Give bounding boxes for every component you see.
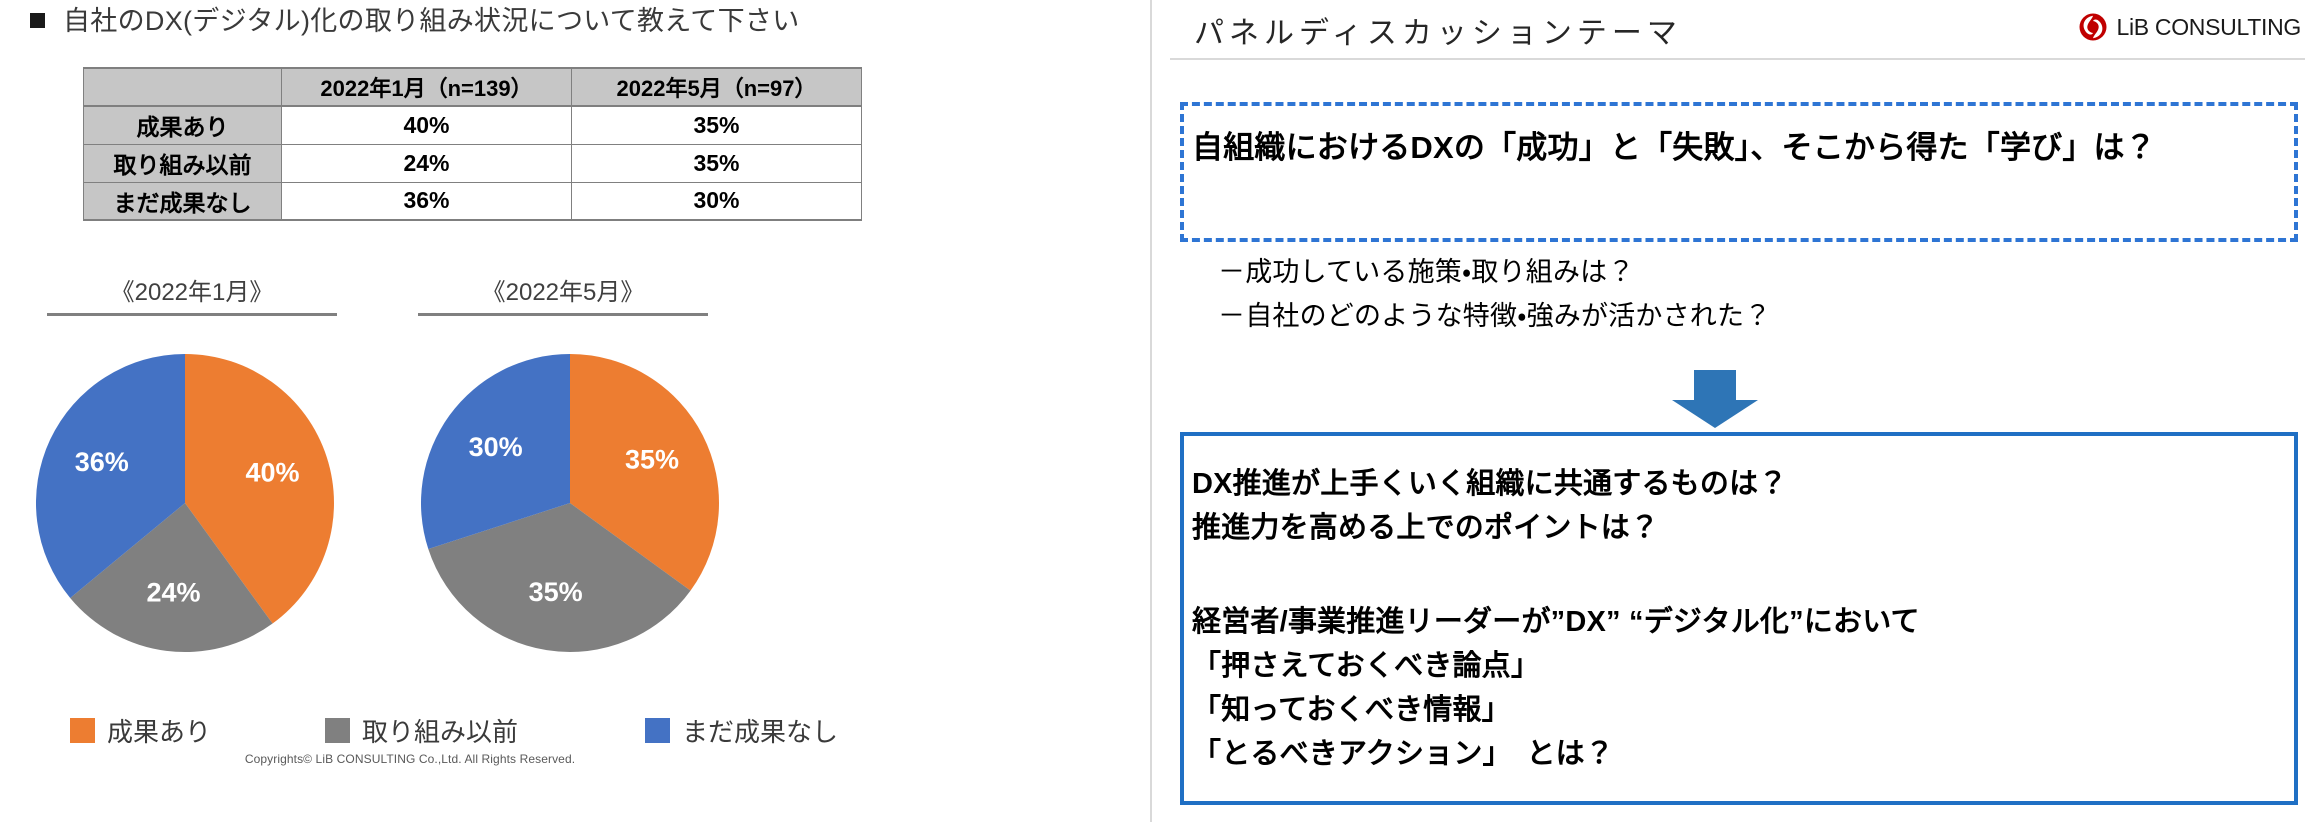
pie-legend: 成果あり 取り組み以前 まだ成果なし xyxy=(30,712,950,749)
down-arrow-icon xyxy=(1672,370,1758,428)
solid-box-line: 「とるべきアクション」 とは？ xyxy=(1192,732,1920,776)
table-corner-cell xyxy=(84,68,282,106)
left-panel-survey-results: 自社のDX(デジタル)化の取り組み状況について教えて下さい 2022年1月（n=… xyxy=(0,0,1150,822)
solid-box-line: 経営者/事業推進リーダーが”DX” “デジタル化”において xyxy=(1192,600,1920,644)
pie-chart-may-svg: 35%35%30% xyxy=(419,352,721,654)
pie-slice-label: 35% xyxy=(625,444,679,474)
pie-title-january: 《2022年1月》 xyxy=(47,272,337,316)
pie-chart-january-svg: 40%24%36% xyxy=(34,352,336,654)
table-header: 2022年1月（n=139） 2022年5月（n=97） xyxy=(84,68,862,106)
table-row: まだ成果なし 36% 30% xyxy=(84,182,862,220)
table-cell-may: 35% xyxy=(572,144,862,182)
right-header: パネルディスカッションテーマ LiB CONSULTING xyxy=(1152,0,2321,62)
dashed-box-headline: 自組織におけるDXの「成功」と「失敗」、そこから得た「学び」は？ xyxy=(1192,122,2156,167)
table-cell-may: 35% xyxy=(572,106,862,144)
pie-chart-may: 35%35%30% xyxy=(419,352,721,654)
left-heading: 自社のDX(デジタル)化の取り組み状況について教えて下さい xyxy=(30,4,800,38)
filled-square-bullet-icon xyxy=(30,13,45,28)
legend-swatch-icon xyxy=(70,718,95,743)
legend-swatch-icon xyxy=(325,718,350,743)
legend-item: まだ成果なし xyxy=(645,712,945,749)
solid-box-line: 「押さえておくべき論点」 xyxy=(1192,644,1920,688)
lib-swirl-logo-icon xyxy=(2078,12,2108,42)
left-heading-text: 自社のDX(デジタル)化の取り組み状況について教えて下さい xyxy=(63,4,800,38)
pie-slice-label: 40% xyxy=(245,458,299,488)
table-col-header-may: 2022年5月（n=97） xyxy=(572,68,862,106)
table-body: 成果あり 40% 35% 取り組み以前 24% 35% まだ成果なし 36% 3… xyxy=(84,106,862,220)
legend-item: 取り組み以前 xyxy=(325,712,645,749)
pie-slice-label: 30% xyxy=(469,432,523,462)
header-divider xyxy=(1170,58,2305,60)
pie-slice-label: 35% xyxy=(529,577,583,607)
table-cell-may: 30% xyxy=(572,182,862,220)
table-row: 成果あり 40% 35% xyxy=(84,106,862,144)
pie-slice-label: 36% xyxy=(75,447,129,477)
table-col-header-jan: 2022年1月（n=139） xyxy=(282,68,572,106)
brand-lockup: LiB CONSULTING xyxy=(2078,12,2301,42)
brand-name: LiB CONSULTING xyxy=(2116,14,2301,41)
table-cell-jan: 24% xyxy=(282,144,572,182)
dashed-box-bullets: －成功している施策・取り組みは？ －自社のどのような特徴・強みが活かされた？ xyxy=(1218,250,1771,338)
pie-chart-january: 40%24%36% xyxy=(34,352,336,654)
solid-box-line: DX推進が上手くいく組織に共通するものは？ xyxy=(1192,462,1788,506)
pie-title-may: 《2022年5月》 xyxy=(418,272,708,316)
table-row-label: 成果あり xyxy=(84,106,282,144)
copyright-notice: Copyrights© LiB CONSULTING Co.,Ltd. All … xyxy=(120,752,700,766)
right-panel-title: パネルディスカッションテーマ xyxy=(1194,8,1682,52)
survey-results-table: 2022年1月（n=139） 2022年5月（n=97） 成果あり 40% 35… xyxy=(83,67,862,221)
legend-item: 成果あり xyxy=(30,712,325,749)
dashed-bullet-line: －成功している施策・取り組みは？ xyxy=(1218,250,1771,294)
pie-slices-may xyxy=(421,354,719,652)
legend-swatch-icon xyxy=(645,718,670,743)
dashed-bullet-line: －自社のどのような特徴・強みが活かされた？ xyxy=(1218,294,1771,338)
slide-canvas: 自社のDX(デジタル)化の取り組み状況について教えて下さい 2022年1月（n=… xyxy=(0,0,2321,822)
legend-label: 成果あり xyxy=(107,712,211,749)
right-panel-discussion-theme: パネルディスカッションテーマ LiB CONSULTING 自組織におけるDXの… xyxy=(1150,0,2321,822)
table-cell-jan: 40% xyxy=(282,106,572,144)
solid-box-line: 推進力を高める上でのポイントは？ xyxy=(1192,506,1788,550)
pie-slice-label: 24% xyxy=(146,577,200,607)
table-row: 取り組み以前 24% 35% xyxy=(84,144,862,182)
solid-box-block-2: 経営者/事業推進リーダーが”DX” “デジタル化”において 「押さえておくべき論… xyxy=(1192,600,1920,776)
table-row-label: まだ成果なし xyxy=(84,182,282,220)
solid-box-line: 「知っておくべき情報」 xyxy=(1192,688,1920,732)
legend-label: まだ成果なし xyxy=(682,712,838,749)
table-header-row: 2022年1月（n=139） 2022年5月（n=97） xyxy=(84,68,862,106)
table-cell-jan: 36% xyxy=(282,182,572,220)
legend-label: 取り組み以前 xyxy=(362,712,518,749)
solid-box-block-1: DX推進が上手くいく組織に共通するものは？ 推進力を高める上でのポイントは？ xyxy=(1192,462,1788,550)
table-row-label: 取り組み以前 xyxy=(84,144,282,182)
